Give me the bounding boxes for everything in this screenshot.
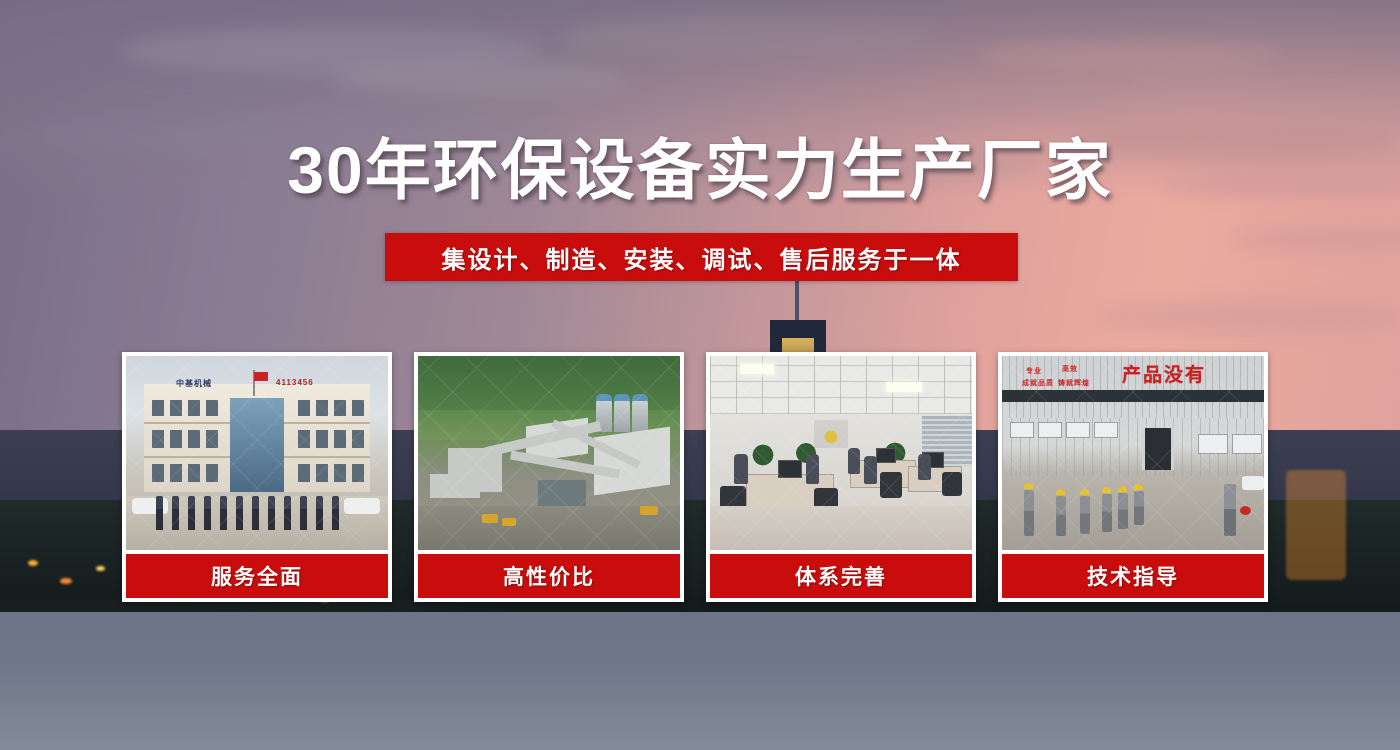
card-label-service: 服务全面 — [126, 554, 388, 598]
photo-office-interior — [710, 356, 972, 550]
card-label-text: 高性价比 — [503, 561, 595, 591]
card-label-system: 体系完善 — [710, 554, 972, 598]
factory-slogan-3: 成就品质 — [1022, 378, 1054, 388]
subtitle-banner: 集设计、制造、安装、调试、售后服务于一体 — [385, 233, 1018, 281]
feature-card-training[interactable]: 产品没有 专业 高效 成就品质 铸就辉煌 — [998, 352, 1268, 602]
photo-plant-aerial — [418, 356, 680, 550]
feature-card-service[interactable]: 中基机械 4113456 服务全面 — [122, 352, 392, 602]
card-label-text: 技术指导 — [1087, 561, 1179, 591]
subtitle-text: 集设计、制造、安装、调试、售后服务于一体 — [442, 240, 962, 275]
factory-slogan-4: 铸就辉煌 — [1058, 378, 1090, 388]
river-reflection — [0, 612, 1400, 672]
factory-wall-sign: 产品没有 — [1122, 360, 1206, 387]
card-label-text: 服务全面 — [211, 561, 303, 591]
factory-slogan-1: 专业 — [1026, 366, 1042, 376]
photo-company-building: 中基机械 4113456 — [126, 356, 388, 550]
photo-factory-workers: 产品没有 专业 高效 成就品质 铸就辉煌 — [1002, 356, 1264, 550]
card-label-value: 高性价比 — [418, 554, 680, 598]
building-phone-text: 4113456 — [276, 378, 314, 387]
feature-card-value[interactable]: 高性价比 — [414, 352, 684, 602]
card-label-text: 体系完善 — [795, 561, 887, 591]
promo-banner: 30年环保设备实力生产厂家 集设计、制造、安装、调试、售后服务于一体 — [0, 0, 1400, 750]
page-title: 30年环保设备实力生产厂家 — [0, 136, 1400, 205]
factory-slogan-2: 高效 — [1062, 364, 1078, 374]
card-label-training: 技术指导 — [1002, 554, 1264, 598]
feature-card-list: 中基机械 4113456 服务全面 — [122, 352, 1278, 602]
feature-card-system[interactable]: 体系完善 — [706, 352, 976, 602]
building-sign-text: 中基机械 — [176, 378, 212, 389]
